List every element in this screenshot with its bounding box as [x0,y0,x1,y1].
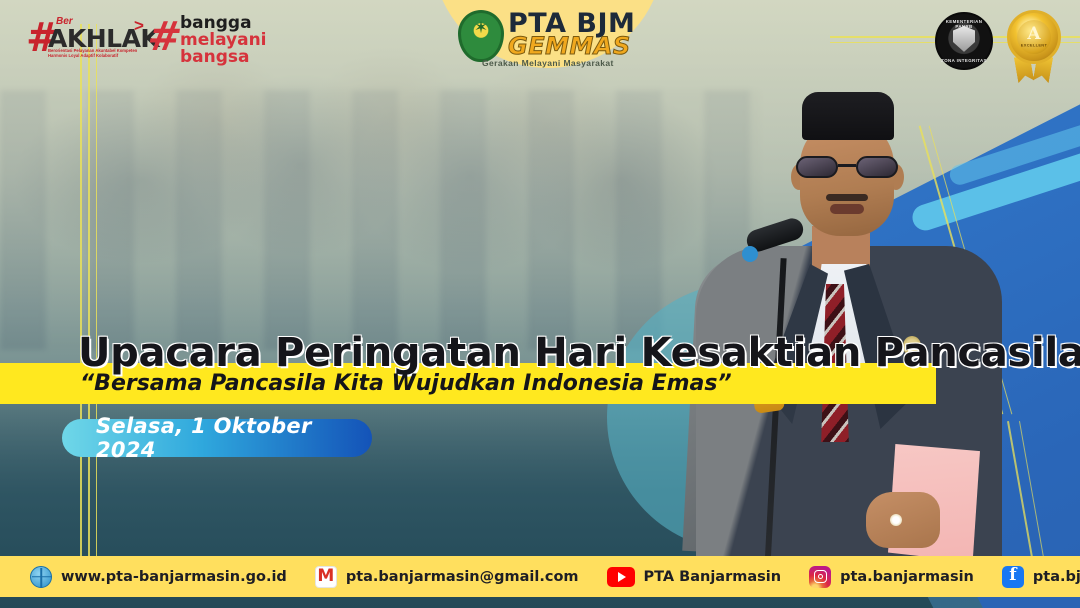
yellow-line-vertical-3 [96,24,97,560]
poster-canvas: # Ber AKHLAK > Berorientasi Pelayanan Ak… [0,0,1080,608]
speaker-sunglasses [796,156,898,178]
instagram-icon [809,566,831,588]
yellow-line-vertical-1 [80,24,82,560]
gemmas-subtitle: GEMMAS [508,32,631,60]
youtube-play-triangle [618,572,626,582]
akhlak-tagline: Berorientasi Pelayanan Akuntabel Kompete… [48,48,148,59]
gmail-glyph: M [317,568,334,585]
footer-item-facebook[interactable]: f pta.bjm [1002,566,1080,588]
sunglasses-lens-left [796,156,838,178]
speaker-photo [660,78,1040,566]
bangga-melayani-bangsa-logo: # bangga melayani bangsa [148,9,260,67]
award-caption: EXCELLENT [1021,42,1047,47]
footer-email-label: pta.banjarmasin@gmail.com [346,569,579,585]
speaker-mouth [830,204,864,214]
page-subtitle: “Bersama Pancasila Kita Wujudkan Indones… [80,371,732,396]
globe-icon [30,566,52,588]
bangga-line-3: bangsa [180,48,250,66]
footer-item-website[interactable]: www.pta-banjarmasin.go.id [30,566,287,588]
green-star-seal-icon: ✶ [458,10,504,62]
footer-website-label: www.pta-banjarmasin.go.id [61,569,287,585]
instagram-square [814,570,827,583]
facebook-icon: f [1002,566,1024,588]
seal-star-glyph: ✶ [474,18,488,38]
footer-facebook-label: pta.bjm [1033,569,1080,585]
youtube-icon [607,567,635,587]
gemmas-tagline: Gerakan Melayani Masyarakat [482,58,614,68]
footer-item-email[interactable]: M pta.banjarmasin@gmail.com [315,566,579,588]
shield-icon [953,26,975,52]
speaker-hand [866,492,940,548]
speaker-mustache [826,194,868,201]
sunglasses-bridge [838,164,856,167]
zona-integritas-badge: KEMENTERIAN PANRB ZONA INTEGRITAS [935,12,993,70]
pta-bjm-gemmas-logo: ✶ PTA BJM GEMMAS Gerakan Melayani Masyar… [452,2,652,72]
event-date-badge: Selasa, 1 Oktober 2024 [62,419,372,457]
bangga-hash-icon: # [145,17,184,57]
award-letter: A [1027,24,1040,44]
footer-instagram-label: pta.banjarmasin [840,569,974,585]
page-title: Upacara Peringatan Hari Kesaktian Pancas… [78,330,978,376]
event-date-text: Selasa, 1 Oktober 2024 [96,414,372,462]
excellent-award-badge: A EXCELLENT [1004,10,1064,82]
footer-item-youtube[interactable]: PTA Banjarmasin [607,567,782,587]
zi-bottom-text: ZONA INTEGRITAS [937,58,991,63]
contact-footer-bar: www.pta-banjarmasin.go.id M pta.banjarma… [0,556,1080,597]
footer-item-instagram[interactable]: pta.banjarmasin [809,566,974,588]
microphone-tip [742,246,758,262]
footer-youtube-label: PTA Banjarmasin [644,569,782,585]
speaker-peci-cap [802,92,894,140]
yellow-line-vertical-2 [88,24,90,560]
rosette-icon: A EXCELLENT [1007,10,1061,64]
akhlak-logo: # Ber AKHLAK > Berorientasi Pelayanan Ak… [26,8,146,66]
akhlak-arrow-icon: > [134,16,144,36]
speaker-ring [890,514,902,526]
gmail-icon: M [315,566,337,588]
sunglasses-lens-right [856,156,898,178]
instagram-lens [818,574,823,579]
